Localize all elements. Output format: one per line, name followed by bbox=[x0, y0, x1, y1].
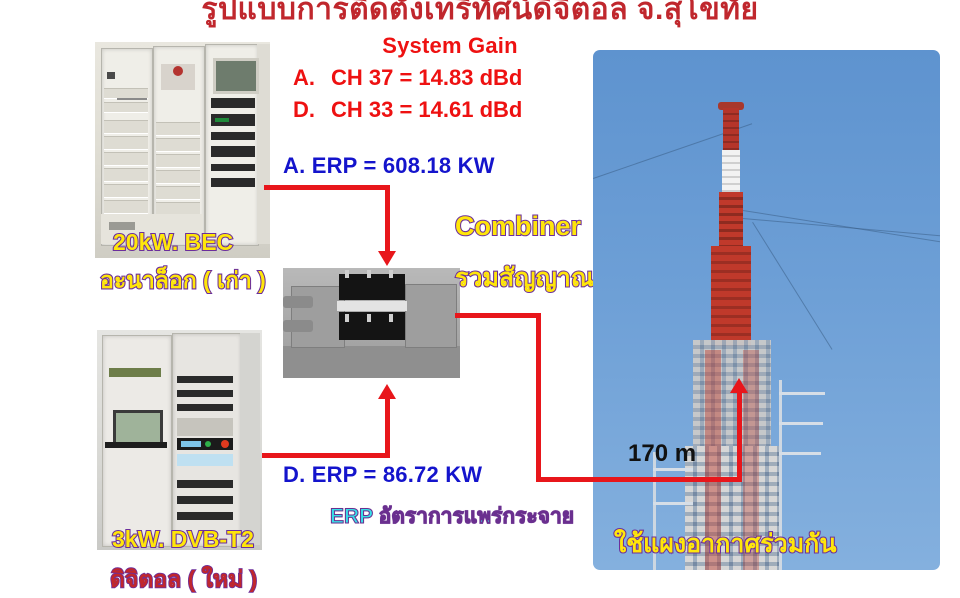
connector-analog-arrowhead bbox=[378, 251, 396, 266]
system-gain-row-d-value: CH 33 = 14.61 dBd bbox=[331, 97, 522, 122]
system-gain-row-a-label: A. bbox=[293, 65, 331, 91]
tower-photo bbox=[593, 50, 940, 570]
system-gain-block: System Gain A.CH 37 = 14.83 dBd D.CH 33 … bbox=[275, 33, 625, 123]
erp-digital-label: D. ERP = 86.72 KW bbox=[283, 462, 482, 488]
slide-canvas: รูปแบบการติดตั้งเทริทัศน์ดิจิตอล จ.สุโขท… bbox=[0, 0, 960, 576]
tower-caption: ใช้แผงอากาศร่วมกัน bbox=[614, 524, 836, 564]
analog-transmitter-photo bbox=[95, 42, 270, 258]
digital-photo-subcaption: ดิจิตอล ( ใหม่ ) bbox=[110, 562, 257, 598]
erp-thai-caption: ERP อัตราการแพร่กระจาย bbox=[330, 500, 574, 533]
connector-output-horizontal-bottom bbox=[536, 477, 742, 482]
system-gain-row-a-value: CH 37 = 14.83 dBd bbox=[331, 65, 522, 90]
combiner-photo bbox=[283, 268, 460, 378]
connector-output-arrowhead bbox=[730, 378, 748, 393]
system-gain-row-d: D.CH 33 = 14.61 dBd bbox=[275, 97, 625, 123]
digital-photo-caption: 3kW. DVB-T2 bbox=[112, 526, 254, 553]
tower-height-label: 170 m bbox=[628, 440, 696, 468]
system-gain-row-d-label: D. bbox=[293, 97, 331, 123]
system-gain-row-a: A.CH 37 = 14.83 dBd bbox=[275, 65, 625, 91]
connector-output-horizontal-top bbox=[455, 313, 541, 318]
connector-digital-arrowhead bbox=[378, 384, 396, 399]
digital-transmitter-photo bbox=[97, 330, 262, 550]
connector-analog-vertical bbox=[385, 185, 390, 253]
combiner-label-en: Combiner bbox=[455, 211, 581, 242]
combiner-label-th: รวมสัญญาณ bbox=[455, 258, 594, 298]
page-title: รูปแบบการติดตั้งเทริทัศน์ดิจิตอล จ.สุโขท… bbox=[0, 0, 960, 33]
analog-photo-caption: 20kW. BEC bbox=[113, 229, 233, 256]
connector-digital-horizontal bbox=[262, 453, 390, 458]
erp-analog-label: A. ERP = 608.18 KW bbox=[283, 153, 495, 179]
connector-output-vertical bbox=[536, 313, 541, 481]
connector-analog-horizontal bbox=[264, 185, 390, 190]
system-gain-heading: System Gain bbox=[275, 33, 625, 59]
connector-digital-vertical bbox=[385, 398, 390, 458]
connector-output-riser bbox=[737, 392, 742, 482]
analog-photo-subcaption: อะนาล็อก ( เก่า ) bbox=[100, 263, 266, 299]
